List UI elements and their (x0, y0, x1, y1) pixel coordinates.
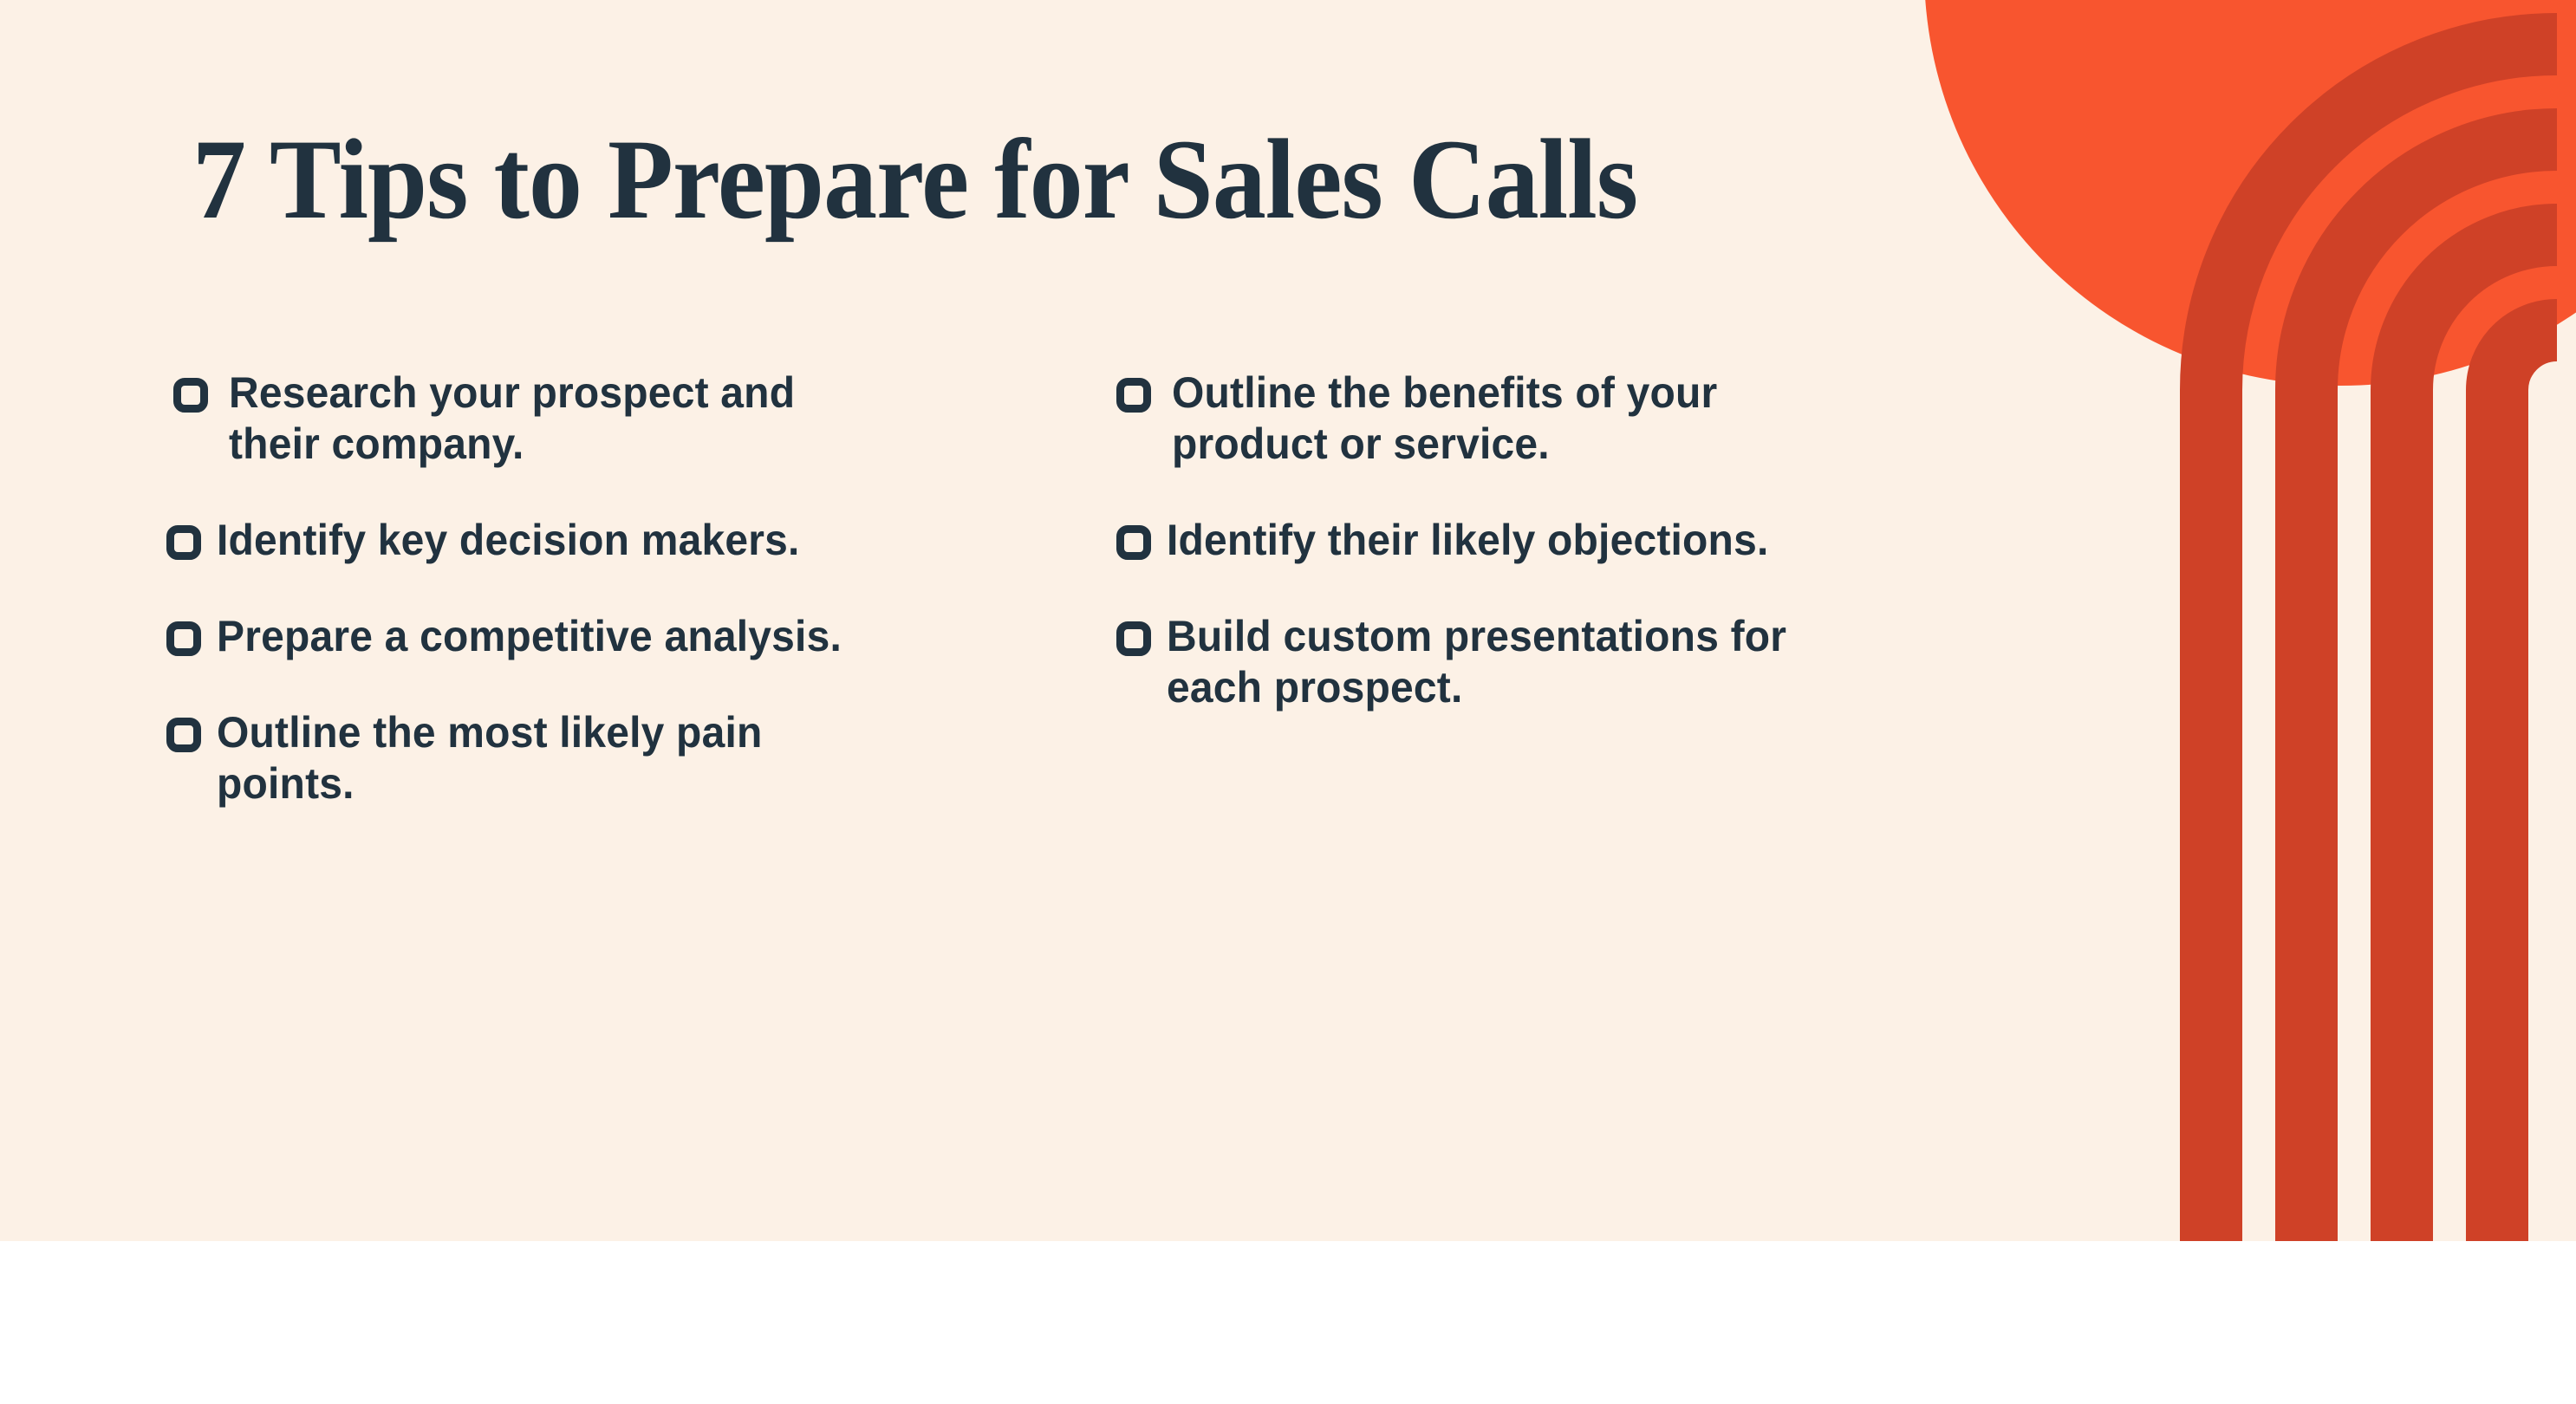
checkbox-empty-icon[interactable] (166, 718, 201, 752)
slide-canvas: 7 Tips to Prepare for Sales Calls Resear… (0, 0, 2576, 1404)
checkbox-empty-icon[interactable] (166, 525, 201, 560)
checklist-column-right: Outline the benefits of your product or … (1116, 367, 1896, 758)
checkbox-empty-icon[interactable] (1116, 378, 1151, 413)
list-item-label: Outline the benefits of your product or … (1172, 367, 1812, 470)
checkbox-empty-icon[interactable] (1116, 621, 1151, 656)
list-item[interactable]: Build custom presentations for each pros… (1116, 611, 1896, 713)
page-title: 7 Tips to Prepare for Sales Calls (192, 119, 1637, 240)
list-item-label: Build custom presentations for each pros… (1167, 611, 1807, 713)
list-item[interactable]: Identify key decision makers. (166, 515, 946, 566)
content-panel: 7 Tips to Prepare for Sales Calls Resear… (0, 0, 2576, 1241)
list-item[interactable]: Prepare a competitive analysis. (166, 611, 946, 662)
list-item-label: Identify their likely objections. (1167, 515, 1768, 566)
list-item-label: Research your prospect and their company… (229, 367, 869, 470)
checkbox-empty-icon[interactable] (166, 621, 201, 656)
list-item-label: Outline the most likely pain points. (217, 707, 857, 809)
list-item[interactable]: Research your prospect and their company… (166, 367, 946, 470)
checklist-column-left: Research your prospect and their company… (166, 367, 946, 855)
list-item[interactable]: Outline the most likely pain points. (166, 707, 946, 809)
list-item[interactable]: Identify their likely objections. (1116, 515, 1896, 566)
checkbox-empty-icon[interactable] (173, 378, 208, 413)
footer-bar (0, 1241, 2576, 1404)
list-item-label: Identify key decision makers. (217, 515, 800, 566)
orange-circle-shape (1924, 0, 2576, 386)
list-item[interactable]: Outline the benefits of your product or … (1116, 367, 1896, 470)
concentric-arcs-shape (2211, 44, 2557, 1241)
checkbox-empty-icon[interactable] (1116, 525, 1151, 560)
list-item-label: Prepare a competitive analysis. (217, 611, 842, 662)
